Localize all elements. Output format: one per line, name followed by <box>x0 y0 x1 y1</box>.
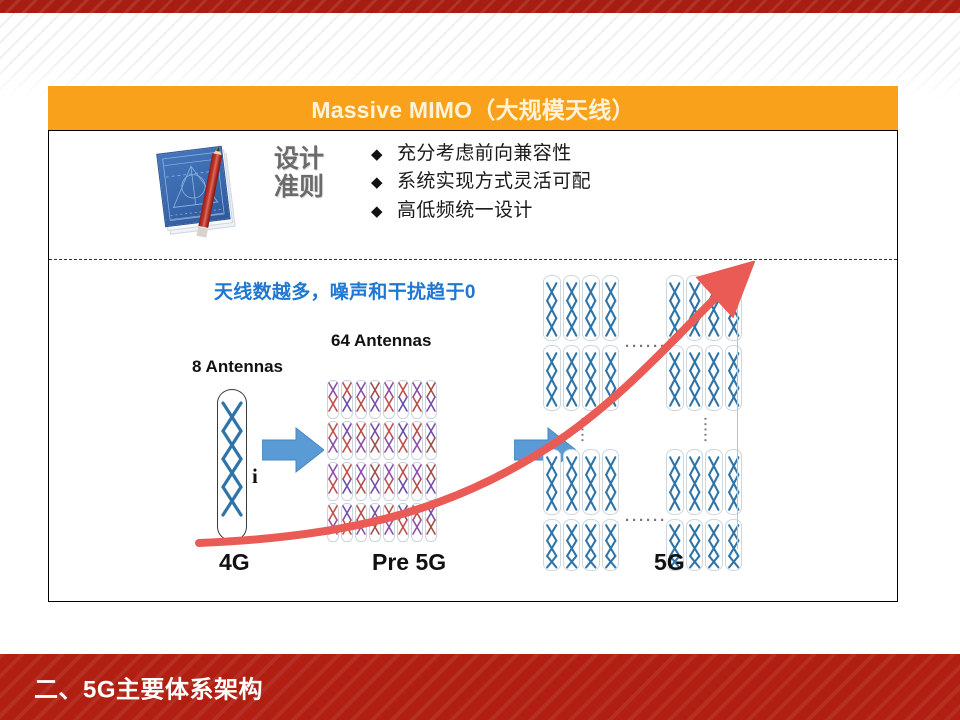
slide-title-bar: Massive MIMO（大规模天线） <box>48 86 898 130</box>
antenna-panel-group <box>666 345 742 411</box>
ellipsis-horizontal: ······ <box>625 339 667 354</box>
page-title: Massive MIMO（大规模天线） <box>311 91 634 125</box>
antenna-element <box>382 461 396 502</box>
antenna-panel-column <box>543 449 561 515</box>
mimo-evolution-diagram: 天线数越多，噪声和干扰趋于0 8 Antennas 64 Antennas i <box>49 261 897 601</box>
content-box: 设计 准则 ◆ 充分考虑前向兼容性 ◆ 系统实现方式灵活可配 ◆ 高低频统一设计 <box>48 130 898 602</box>
top-bar-stripe-texture <box>0 0 960 13</box>
antenna-element <box>354 379 368 420</box>
antenna-element <box>382 379 396 420</box>
antenna-element <box>368 502 382 543</box>
antenna-panel-column <box>725 519 743 571</box>
bullet-text: 系统实现方式灵活可配 <box>397 171 591 193</box>
antenna-panel-column <box>666 345 684 411</box>
label-8-antennas: 8 Antennas <box>192 357 283 377</box>
antenna-panel-group <box>543 345 619 411</box>
list-item: ◆ 系统实现方式灵活可配 <box>371 171 591 193</box>
diamond-bullet-icon: ◆ <box>371 147 397 162</box>
antenna-element <box>382 502 396 543</box>
antenna-panel-column <box>686 449 704 515</box>
diagram-headline: 天线数越多，噪声和干扰趋于0 <box>214 277 476 304</box>
antenna-panel-column <box>582 345 600 411</box>
antenna-panel-column <box>725 345 743 411</box>
antenna-element <box>326 461 340 502</box>
section-title: 二、5G主要体系架构 <box>34 670 263 705</box>
antenna-element <box>326 502 340 543</box>
ellipsis-horizontal: ······ <box>625 513 667 528</box>
antenna-panel-column <box>602 449 620 515</box>
antenna-panel-column <box>705 345 723 411</box>
antenna-panel-column <box>725 449 743 515</box>
bullet-text: 高低频统一设计 <box>397 200 533 222</box>
antenna-array-64 <box>326 379 438 543</box>
antenna-element <box>424 420 438 461</box>
diamond-bullet-icon: ◆ <box>371 175 397 190</box>
list-item: ◆ 高低频统一设计 <box>371 200 591 222</box>
antenna-panel-column <box>602 519 620 571</box>
antenna-panel-group <box>666 449 742 515</box>
slide-canvas: Massive MIMO（大规模天线） <box>0 0 960 720</box>
diagram-axis-line <box>737 269 738 549</box>
antenna-panel-column <box>543 275 561 341</box>
antenna-element <box>410 420 424 461</box>
antenna-element <box>396 461 410 502</box>
antenna-element <box>410 502 424 543</box>
antenna-element <box>396 502 410 543</box>
antenna-panel-column <box>602 275 620 341</box>
antenna-element <box>424 502 438 543</box>
ellipsis-vertical: ····· <box>576 417 589 444</box>
stray-glyph-artifact: i <box>252 466 258 487</box>
pencil-eraser <box>196 227 208 238</box>
design-guideline-label-line2: 准则 <box>247 173 351 201</box>
bullet-text: 充分考虑前向兼容性 <box>397 143 572 165</box>
antenna-panel-column <box>543 519 561 571</box>
design-guideline-label-line1: 设计 <box>247 145 351 173</box>
antenna-element <box>410 379 424 420</box>
antenna-panel-column <box>563 345 581 411</box>
antenna-panel-column <box>705 275 723 341</box>
generation-label-4g: 4G <box>219 549 250 576</box>
antenna-panel-column <box>666 449 684 515</box>
design-guideline-group: 设计 准则 <box>161 143 351 243</box>
antenna-element <box>368 461 382 502</box>
antenna-element <box>368 420 382 461</box>
antenna-element <box>340 379 354 420</box>
antenna-element <box>354 502 368 543</box>
generation-label-pre5g: Pre 5G <box>372 549 446 576</box>
antenna-panel-column <box>705 519 723 571</box>
antenna-panel-column <box>582 275 600 341</box>
list-item: ◆ 充分考虑前向兼容性 <box>371 143 591 165</box>
antenna-panel-column <box>686 345 704 411</box>
antenna-element <box>396 420 410 461</box>
antenna-panel-group <box>666 275 742 341</box>
antenna-element <box>424 461 438 502</box>
guideline-section: 设计 准则 ◆ 充分考虑前向兼容性 ◆ 系统实现方式灵活可配 ◆ 高低频统一设计 <box>49 131 897 259</box>
arrow-right-icon <box>262 426 324 474</box>
antenna-panel-column <box>563 449 581 515</box>
bullet-list: ◆ 充分考虑前向兼容性 ◆ 系统实现方式灵活可配 ◆ 高低频统一设计 <box>371 143 591 228</box>
top-red-bar <box>0 0 960 13</box>
label-64-antennas: 64 Antennas <box>331 331 431 351</box>
antenna-panel-column <box>582 449 600 515</box>
antenna-element <box>340 420 354 461</box>
antenna-array-8 <box>217 389 247 541</box>
antenna-element <box>410 461 424 502</box>
antenna-element <box>326 420 340 461</box>
antenna-panel-column <box>666 275 684 341</box>
antenna-panel-group <box>543 449 619 515</box>
antenna-panel-group <box>543 519 619 571</box>
antenna-element <box>396 379 410 420</box>
antenna-panel-column <box>686 519 704 571</box>
antenna-element <box>368 379 382 420</box>
antenna-panel-column <box>705 449 723 515</box>
section-divider <box>49 259 897 260</box>
antenna-element <box>354 420 368 461</box>
antenna-element <box>340 461 354 502</box>
generation-label-5g: 5G <box>654 549 685 576</box>
antenna-panel-column <box>686 275 704 341</box>
antenna-element <box>382 420 396 461</box>
section-footer-banner: 二、5G主要体系架构 <box>0 654 960 720</box>
antenna-panel-column <box>543 345 561 411</box>
antenna-element <box>354 461 368 502</box>
antenna-element <box>424 379 438 420</box>
antenna-element <box>326 379 340 420</box>
design-guideline-label: 设计 准则 <box>247 145 351 201</box>
blueprint-icon <box>156 145 240 237</box>
ellipsis-vertical: ····· <box>699 417 712 444</box>
antenna-panel-column <box>725 275 743 341</box>
diamond-bullet-icon: ◆ <box>371 204 397 219</box>
antenna-panel-group <box>543 275 619 341</box>
antenna-panel-column <box>582 519 600 571</box>
antenna-element <box>340 502 354 543</box>
antenna-panel-column <box>563 275 581 341</box>
antenna-panel-column <box>563 519 581 571</box>
antenna-panel-column <box>602 345 620 411</box>
growth-curve-overlay <box>49 261 897 601</box>
